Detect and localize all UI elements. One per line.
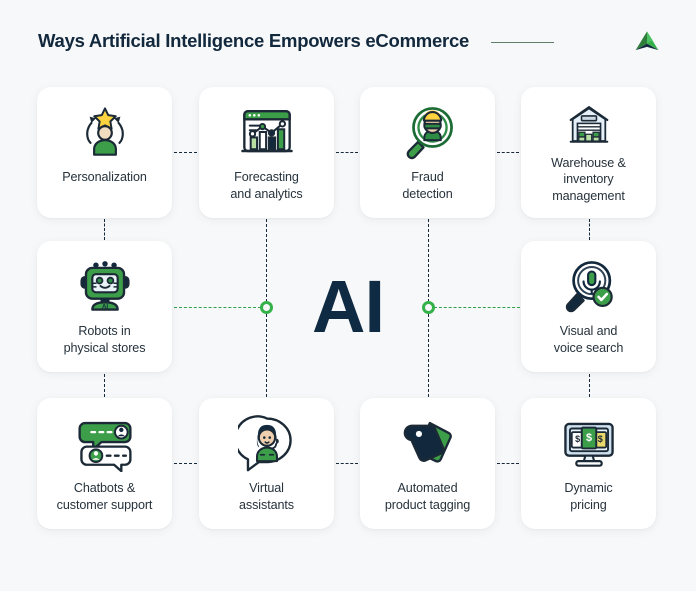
header: Ways Artificial Intelligence Empowers eC…: [0, 0, 696, 82]
junction-node-right: [422, 301, 435, 314]
card-label: Warehouse &inventorymanagement: [551, 155, 626, 205]
card-label: Virtualassistants: [239, 480, 294, 513]
connector-r1-c1-c2: [174, 152, 197, 153]
card-dynamic-pricing[interactable]: $ $ $ Dynamicpricing: [521, 398, 656, 529]
card-label: Forecastingand analytics: [230, 169, 302, 202]
card-forecasting-and-analytics[interactable]: Forecastingand analytics: [199, 87, 334, 218]
card-robots-in-physical-stores[interactable]: AI Robots inphysical stores: [37, 241, 172, 372]
svg-text:$: $: [585, 432, 591, 444]
connector-r2-right-to-ai: [434, 307, 520, 308]
warehouse-icon: [560, 103, 618, 147]
card-fraud-detection[interactable]: Frauddetection: [360, 87, 495, 218]
card-virtual-assistants[interactable]: Virtualassistants: [199, 398, 334, 529]
card-label: Robots inphysical stores: [64, 323, 146, 356]
card-label: Automatedproduct tagging: [385, 480, 470, 513]
page-title: Ways Artificial Intelligence Empowers eC…: [38, 30, 469, 52]
card-label: Personalization: [62, 169, 147, 186]
connector-c1-r2-r3: [104, 374, 105, 397]
connector-r1-c2-c3: [336, 152, 358, 153]
connector-r1-c3-c4: [497, 152, 519, 153]
junction-node-left: [260, 301, 273, 314]
card-warehouse-inventory-management[interactable]: Warehouse &inventorymanagement: [521, 87, 656, 218]
header-divider: [491, 42, 553, 43]
person-star-arrows-icon: [76, 103, 134, 161]
card-label: Frauddetection: [402, 169, 452, 202]
card-visual-and-voice-search[interactable]: Visual andvoice search: [521, 241, 656, 372]
connector-c1-r1-r2: [104, 219, 105, 240]
connector-r3-c1-c2: [174, 463, 197, 464]
card-label: Dynamicpricing: [564, 480, 612, 513]
arrow-up-logo-icon: [634, 29, 660, 55]
connector-r2-left-to-ai: [174, 307, 261, 308]
assistant-bubble-icon: [238, 414, 296, 472]
monitor-money-icon: $ $ $: [560, 414, 618, 472]
card-automated-product-tagging[interactable]: Automatedproduct tagging: [360, 398, 495, 529]
price-tags-icon: [399, 414, 457, 472]
infographic-root: Ways Artificial Intelligence Empowers eC…: [0, 0, 696, 591]
magnifier-thief-icon: [399, 103, 457, 161]
connector-c4-r1-r2: [589, 219, 590, 240]
svg-text:$: $: [575, 434, 580, 444]
connector-r3-c2-c3: [336, 463, 358, 464]
connector-c4-r2-r3: [589, 374, 590, 397]
chat-bubbles-icon: [76, 414, 134, 472]
analytics-dashboard-icon: [238, 103, 296, 161]
magnifier-microphone-icon: [560, 257, 618, 315]
card-personalization[interactable]: Personalization: [37, 87, 172, 218]
svg-text:AI: AI: [101, 304, 108, 311]
card-label: Visual andvoice search: [554, 323, 624, 356]
center-ai-label: AI: [280, 268, 416, 346]
robot-icon: AI: [76, 257, 134, 315]
card-label: Chatbots &customer support: [57, 480, 153, 513]
svg-text:$: $: [597, 434, 602, 444]
card-chatbots-customer-support[interactable]: Chatbots &customer support: [37, 398, 172, 529]
connector-r3-c3-c4: [497, 463, 519, 464]
